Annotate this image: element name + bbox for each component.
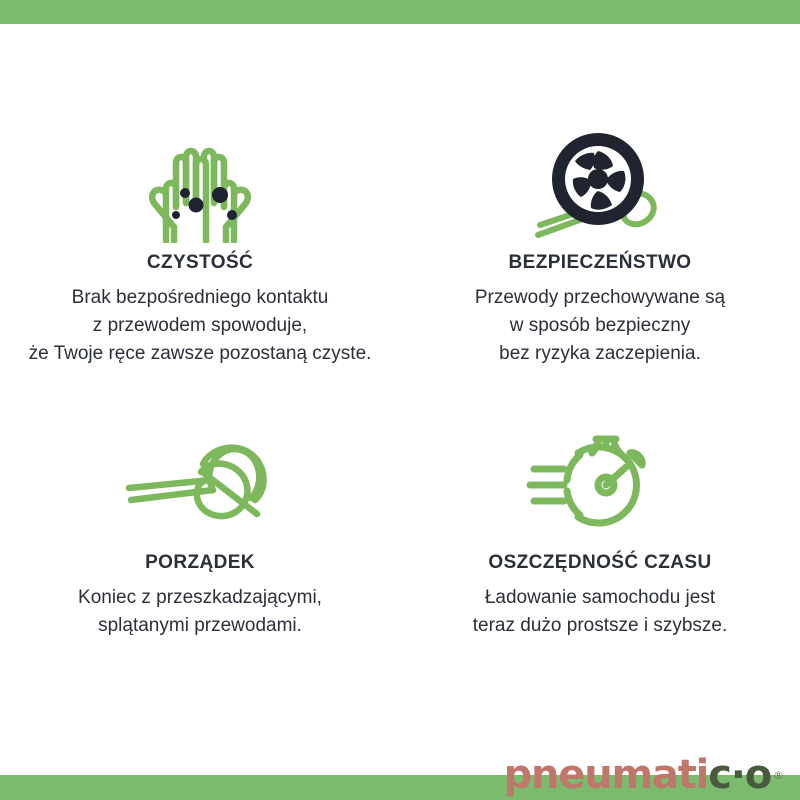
logo-wordmark: pneumatic·o: [504, 755, 771, 795]
feature-body-line: Koniec z przeszkadzającymi,: [0, 584, 400, 612]
feature-grid: CZYSTOŚĆ Brak bezpośredniego kontaktu z …: [0, 24, 800, 775]
feature-heading: CZYSTOŚĆ: [0, 253, 400, 274]
feature-body-line: splątanymi przewodami.: [0, 612, 400, 640]
top-green-bar: [0, 0, 800, 24]
feature-body: Przewody przechowywane są w sposób bezpi…: [400, 284, 800, 368]
feature-body-line: Ładowanie samochodu jest: [400, 584, 800, 612]
logo-part-primary: pneumati: [504, 752, 709, 798]
feature-body-line: z przewodem spowoduje,: [0, 312, 400, 340]
feature-body-line: Brak bezpośredniego kontaktu: [0, 284, 400, 312]
clean-hands-icon: [0, 120, 400, 245]
feature-card-safety: BEZPIECZEŃSTWO Przewody przechowywane są…: [400, 120, 800, 368]
feature-body-line: Przewody przechowywane są: [400, 284, 800, 312]
stopwatch-icon: [400, 420, 800, 545]
feature-body-line: że Twoje ręce zawsze pozostaną czyste.: [0, 340, 400, 368]
feature-body-line: teraz dużo prostsze i szybsze.: [400, 612, 800, 640]
logo-part-secondary: c·o: [708, 752, 771, 798]
feature-card-order: PORZĄDEK Koniec z przeszkadzającymi, spl…: [0, 420, 400, 640]
registered-trademark-icon: ®: [773, 769, 784, 782]
tangled-cable-icon: [0, 420, 400, 545]
feature-body: Ładowanie samochodu jest teraz dużo pros…: [400, 584, 800, 640]
feature-card-time-saving: OSZCZĘDNOŚĆ CZASU Ładowanie samochodu je…: [400, 420, 800, 640]
feature-heading: PORZĄDEK: [0, 553, 400, 574]
tire-with-cable-icon: [400, 120, 800, 245]
feature-body: Koniec z przeszkadzającymi, splątanymi p…: [0, 584, 400, 640]
feature-body: Brak bezpośredniego kontaktu z przewodem…: [0, 284, 400, 368]
feature-heading: OSZCZĘDNOŚĆ CZASU: [400, 553, 800, 574]
feature-card-cleanliness: CZYSTOŚĆ Brak bezpośredniego kontaktu z …: [0, 120, 400, 368]
feature-heading: BEZPIECZEŃSTWO: [400, 253, 800, 274]
feature-body-line: bez ryzyka zaczepienia.: [400, 340, 800, 368]
pneumatico-logo: pneumatic·o ®: [504, 754, 784, 796]
feature-body-line: w sposób bezpieczny: [400, 312, 800, 340]
infographic-page: CZYSTOŚĆ Brak bezpośredniego kontaktu z …: [0, 0, 800, 800]
